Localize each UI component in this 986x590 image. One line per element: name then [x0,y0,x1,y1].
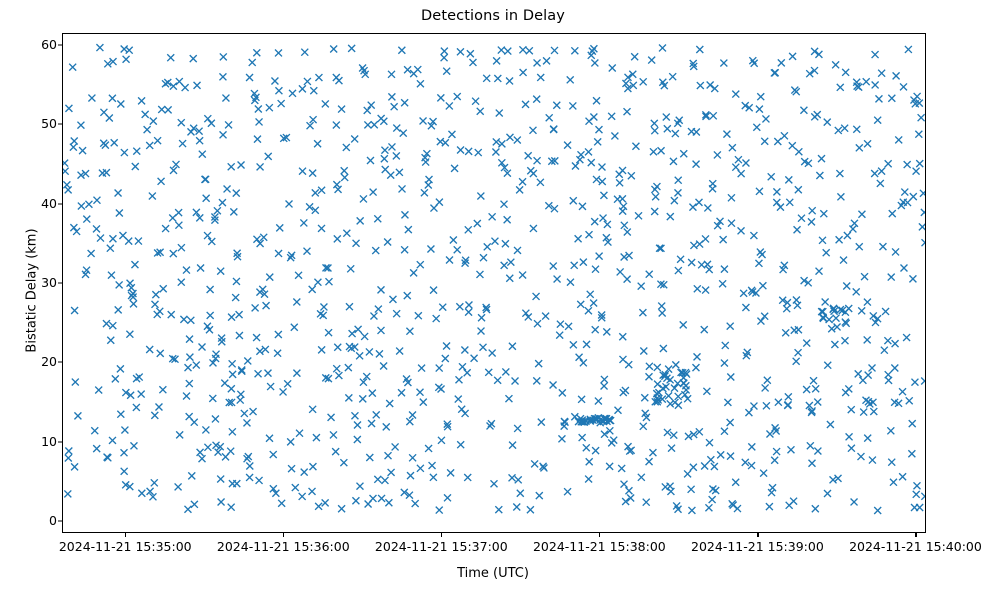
scatter-point [260,234,267,241]
scatter-point [218,335,225,342]
y-axis-tick-label: 0 [0,515,57,527]
scatter-point [495,506,502,513]
scatter-point [872,51,879,58]
scatter-point [467,50,474,57]
scatter-point [570,341,577,348]
scatter-point [253,49,260,56]
scatter-point [570,197,577,204]
scatter-point [766,503,773,510]
scatter-point [913,491,920,498]
scatter-point [461,347,468,354]
scatter-point [586,231,593,238]
scatter-point [478,328,485,335]
scatter-point [724,399,731,406]
scatter-point [186,380,193,387]
scatter-point [437,94,444,101]
scatter-point [398,47,405,54]
scatter-point [543,57,550,64]
scatter-point [388,143,395,150]
x-axis-tick-mark [915,533,916,537]
scatter-point [151,412,158,419]
scatter-point [913,482,920,489]
scatter-point [888,459,895,466]
scatter-point [537,179,544,186]
scatter-point [335,77,342,84]
scatter-point [688,259,695,266]
scatter-point [918,114,925,121]
scatter-point [310,87,317,94]
scatter-point [93,225,100,232]
scatter-point [214,207,221,214]
scatter-point [266,274,273,281]
scatter-point [608,113,615,120]
scatter-point [165,106,172,113]
scatter-point [916,160,923,167]
scatter-point [253,334,260,341]
scatter-point [154,311,161,318]
scatter-point [692,364,699,371]
scatter-point [723,131,730,138]
scatter-point [213,351,220,358]
scatter-point [374,476,381,483]
scatter-point [381,477,388,484]
scatter-point [596,253,603,260]
scatter-point [263,302,270,309]
scatter-point [662,483,669,490]
scatter-point [430,474,437,481]
scatter-point [688,128,695,135]
scatter-point [895,136,902,143]
scatter-point [233,278,240,285]
scatter-point [370,313,377,320]
scatter-point [191,501,198,508]
scatter-point [457,147,464,154]
scatter-point [374,215,381,222]
scatter-point [71,463,78,470]
scatter-point [238,366,245,373]
scatter-point [654,381,661,388]
scatter-point [586,118,593,125]
scatter-point [295,272,302,279]
scatter-point [109,235,116,242]
scatter-point [73,228,80,235]
scatter-point [775,399,782,406]
scatter-point [107,245,114,252]
scatter-point [564,142,571,149]
scatter-point [218,499,225,506]
scatter-point [693,161,700,168]
scatter-point [494,75,501,82]
scatter-point [241,410,248,417]
scatter-point [567,279,574,286]
scatter-point [409,412,416,419]
scatter-point [815,51,822,58]
scatter-point [312,189,319,196]
scatter-point [901,189,908,196]
scatter-point [537,74,544,81]
scatter-point [651,186,658,193]
scatter-point [851,498,858,505]
scatter-point [186,354,193,361]
scatter-point [421,189,428,196]
scatter-point [711,85,718,92]
scatter-point [768,489,775,496]
scatter-point [442,139,449,146]
scatter-point [341,167,348,174]
scatter-point [228,385,235,392]
scatter-point [842,389,849,396]
scatter-point [835,127,842,134]
scatter-point [763,402,770,409]
scatter-point [785,176,792,183]
scatter-point [121,449,128,456]
scatter-point [369,390,376,397]
scatter-point [865,372,872,379]
scatter-point [832,61,839,68]
scatter-point [913,168,920,175]
scatter-point [828,325,835,332]
scatter-point [228,314,235,321]
scatter-point [869,457,876,464]
scatter-point [702,287,709,294]
scatter-point [229,371,236,378]
scatter-point [705,504,712,511]
x-axis-tick-mark [599,533,600,537]
scatter-point [877,180,884,187]
scatter-point [816,172,823,179]
scatter-point [836,236,843,243]
scatter-point [709,496,716,503]
scatter-point [710,112,717,119]
scatter-point [814,399,821,406]
scatter-point [680,321,687,328]
scatter-point [696,46,703,53]
scatter-point [347,265,354,272]
scatter-point [454,246,461,253]
scatter-point [288,465,295,472]
scatter-point [116,281,123,288]
scatter-point [688,486,695,493]
scatter-point [577,151,584,158]
scatter-point [144,126,151,133]
scatter-point [909,275,916,282]
scatter-point [187,317,194,324]
scatter-point [575,235,582,242]
scatter-point [908,450,915,457]
scatter-point [368,420,375,427]
scatter-point [546,114,553,121]
scatter-point [303,248,310,255]
scatter-point [208,120,215,127]
scatter-point [93,445,100,452]
scatter-point [315,74,322,81]
scatter-point [175,222,182,229]
scatter-point [183,267,190,274]
scatter-point [366,348,373,355]
scatter-point [353,240,360,247]
scatter-point [158,106,165,113]
scatter-point [553,102,560,109]
scatter-point [635,212,642,219]
scatter-point [304,78,311,85]
scatter-point [811,48,818,55]
scatter-point [121,149,128,156]
scatter-point [690,242,697,249]
scatter-point [814,448,821,455]
scatter-point [63,168,69,175]
scatter-point [176,431,183,438]
scatter-point [509,343,516,350]
scatter-point [159,386,166,393]
scatter-point [493,57,500,64]
scatter-point [728,220,735,227]
scatter-point [616,171,623,178]
scatter-point [624,229,631,236]
scatter-point [233,190,240,197]
scatter-point [204,232,211,239]
scatter-point [266,104,273,111]
scatter-point [554,276,561,283]
scatter-point [576,354,583,361]
scatter-point [383,423,390,430]
scatter-point [398,389,405,396]
scatter-point [167,54,174,61]
scatter-point [621,222,628,229]
scatter-point [71,307,78,314]
scatter-point [591,218,598,225]
scatter-point [590,300,597,307]
scatter-point [761,138,768,145]
scatter-point [794,302,801,309]
scatter-point [649,449,656,456]
scatter-point [658,147,665,154]
scatter-point [88,95,95,102]
scatter-point [571,47,578,54]
scatter-point [328,414,335,421]
scatter-point [451,165,458,172]
scatter-point [108,272,115,279]
scatter-point [375,306,382,313]
scatter-point [777,204,784,211]
scatter-point [583,444,590,451]
scatter-point [345,364,352,371]
scatter-point [871,170,878,177]
scatter-point [694,285,701,292]
scatter-point [672,130,679,137]
scatter-point [106,115,113,122]
scatter-point [771,69,778,76]
scatter-point [477,193,484,200]
scatter-point [671,197,678,204]
scatter-point [638,474,645,481]
scatter-point [420,117,427,124]
scatter-point [625,487,632,494]
scatter-point [491,480,498,487]
scatter-point [753,124,760,131]
scatter-point [594,138,601,145]
scatter-point [738,170,745,177]
scatter-point [126,47,133,54]
scatter-point [348,45,355,52]
scatter-point [606,463,613,470]
scatter-point [154,137,161,144]
scatter-point [386,400,393,407]
scatter-point [191,419,198,426]
scatter-points-layer [63,34,925,532]
scatter-point [514,247,521,254]
scatter-point [835,475,842,482]
scatter-point [355,326,362,333]
scatter-point [365,501,372,508]
scatter-point [519,46,526,53]
scatter-point [97,235,104,242]
scatter-point [580,259,587,266]
scatter-point [745,409,752,416]
scatter-point [704,261,711,268]
scatter-point [869,364,876,371]
y-axis-tick-mark [58,362,62,363]
scatter-point [856,243,863,250]
scatter-point [665,392,672,399]
scatter-point [514,425,521,432]
scatter-point [349,330,356,337]
scatter-point [921,378,925,385]
x-axis-tick-mark [125,533,126,537]
scatter-point [178,244,185,251]
scatter-point [740,290,747,297]
scatter-point [904,161,911,168]
scatter-point [372,247,379,254]
scatter-point [439,304,446,311]
scatter-point [333,181,340,188]
scatter-point [476,271,483,278]
scatter-point [572,163,579,170]
scatter-point [742,304,749,311]
scatter-point [458,406,465,413]
x-axis-tick-label: 2024-11-21 15:36:00 [217,540,350,553]
scatter-point [318,225,325,232]
scatter-point [130,442,137,449]
scatter-point [443,343,450,350]
scatter-point [176,78,183,85]
scatter-point [922,239,925,246]
scatter-point [425,445,432,452]
scatter-point [800,107,807,114]
scatter-point [702,235,709,242]
scatter-point [364,121,371,128]
scatter-point [567,76,574,83]
scatter-point [264,370,271,377]
scatter-point [619,208,626,215]
scatter-point [564,488,571,495]
scatter-point [843,283,850,290]
scatter-point [727,323,734,330]
x-axis-tick-mark [283,533,284,537]
scatter-point [585,307,592,314]
scatter-point [864,299,871,306]
scatter-point [212,415,219,422]
y-axis-tick-mark [58,44,62,45]
scatter-point [447,469,454,476]
scatter-point [378,327,385,334]
scatter-point [138,490,145,497]
scatter-point [485,369,492,376]
scatter-point [916,504,923,511]
scatter-point [381,147,388,154]
scatter-point [712,487,719,494]
scatter-point [472,98,479,105]
scatter-point [178,279,185,286]
scatter-point [684,470,691,477]
scatter-point [65,186,72,193]
scatter-point [484,243,491,250]
scatter-point [795,148,802,155]
scatter-point [899,388,906,395]
scatter-point [318,346,325,353]
scatter-point [370,189,377,196]
scatter-point [400,130,407,137]
scatter-point [219,199,226,206]
scatter-point [550,126,557,133]
scatter-point [330,46,337,53]
scatter-point [773,199,780,206]
scatter-point [664,429,671,436]
scatter-point [343,230,350,237]
scatter-point [853,288,860,295]
scatter-point [255,370,262,377]
scatter-point [70,144,77,151]
scatter-point [286,200,293,207]
scatter-point [695,199,702,206]
scatter-point [301,49,308,56]
scatter-point [551,47,558,54]
scatter-point [819,308,826,315]
scatter-point [848,406,855,413]
scatter-point [284,380,291,387]
scatter-point [878,70,885,77]
scatter-point [420,399,427,406]
scatter-point [893,72,900,79]
scatter-point [681,391,688,398]
scatter-point [320,312,327,319]
scatter-point [595,126,602,133]
scatter-point [707,456,714,463]
scatter-point [757,249,764,256]
scatter-point [407,472,414,479]
scatter-point [512,378,519,385]
scatter-point [513,504,520,511]
scatter-point [222,95,229,102]
scatter-point [683,386,690,393]
scatter-point [393,310,400,317]
scatter-point [175,483,182,490]
scatter-point [771,457,778,464]
scatter-point [441,54,448,61]
scatter-point [756,188,763,195]
scatter-point [475,149,482,156]
scatter-point [193,362,200,369]
scatter-point [586,458,593,465]
scatter-point [477,108,484,115]
scatter-point [116,209,123,216]
scatter-point [515,476,522,483]
scatter-point [64,490,71,497]
scatter-point [592,266,599,273]
scatter-point [299,493,306,500]
scatter-point [526,47,533,54]
scatter-point [121,468,128,475]
scatter-point [638,283,645,290]
